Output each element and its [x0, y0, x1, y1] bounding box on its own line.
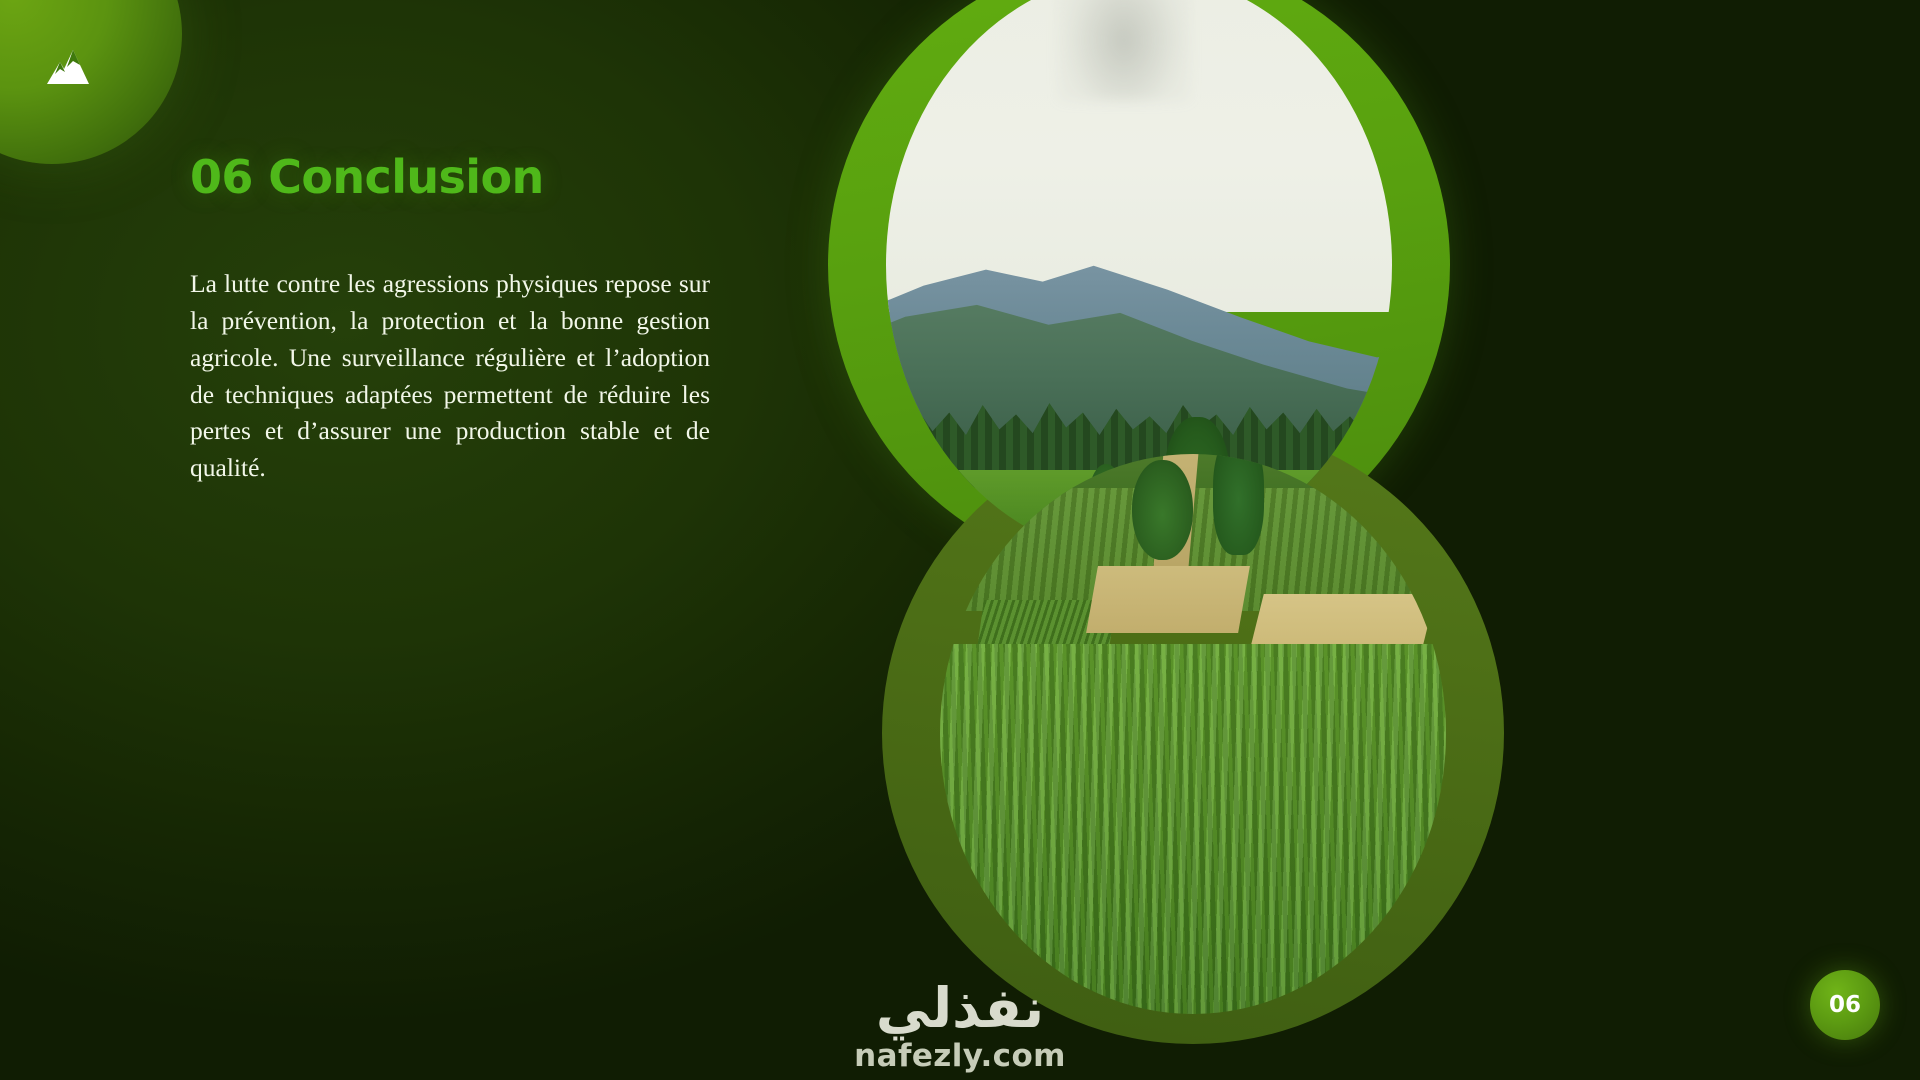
- logo-badge: [0, 0, 182, 164]
- page-number-badge: 06: [1810, 970, 1880, 1040]
- body-paragraph: La lutte contre les agressions physiques…: [190, 266, 710, 487]
- hourglass-image-composition: [828, 0, 1920, 1080]
- crop-field-photo: [940, 454, 1446, 1014]
- field-tree-left: [1132, 460, 1193, 561]
- wheat-strip-left: [1086, 566, 1250, 633]
- page-title: 06 Conclusion: [190, 150, 710, 204]
- main-crop-rows: [940, 644, 1446, 1014]
- slide-canvas: 06 Conclusion La lutte contre les agress…: [0, 0, 1920, 1080]
- cloud-shape: [1058, 0, 1190, 101]
- field-tree-right: [1213, 454, 1264, 555]
- text-column: 06 Conclusion La lutte contre les agress…: [190, 150, 710, 487]
- mountain-icon: [42, 44, 104, 90]
